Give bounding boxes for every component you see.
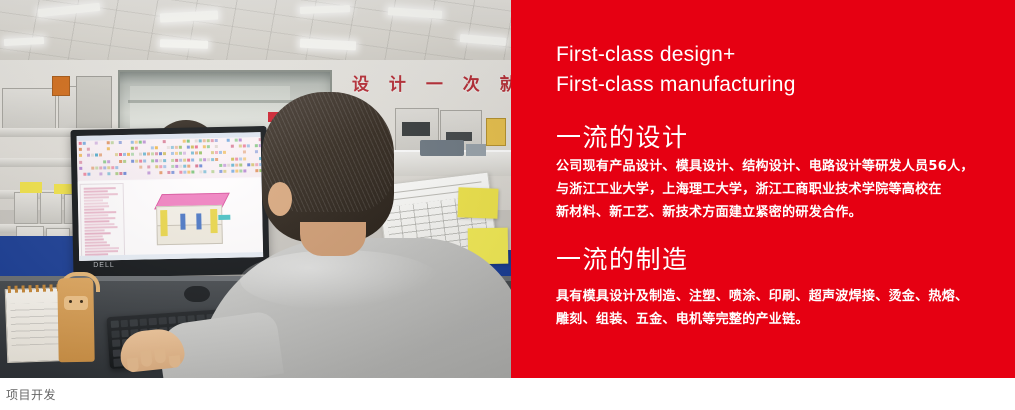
panel-content: First-class design+ First-class manufact… — [556, 0, 986, 378]
photo-vignette — [0, 0, 511, 378]
section-heading-design: 一流的设计 — [556, 118, 689, 154]
red-text-panel: First-class design+ First-class manufact… — [511, 0, 1015, 378]
section-heading-manufacturing: 一流的制造 — [556, 240, 689, 276]
section-body-design: 公司现有产品设计、模具设计、结构设计、电路设计等研发人员56人， 与浙江工业大学… — [556, 155, 976, 224]
office-photo: 设 计 一 次 就 做 对 — [0, 0, 511, 378]
hero-banner: 设 计 一 次 就 做 对 — [0, 0, 1015, 378]
image-caption: 项目开发 — [6, 386, 56, 403]
section-body-manufacturing: 具有模具设计及制造、注塑、喷涂、印刷、超声波焊接、烫金、热熔、 雕刻、组装、五金… — [556, 285, 976, 331]
english-heading: First-class design+ First-class manufact… — [556, 40, 986, 100]
page-root: 设 计 一 次 就 做 对 — [0, 0, 1015, 410]
